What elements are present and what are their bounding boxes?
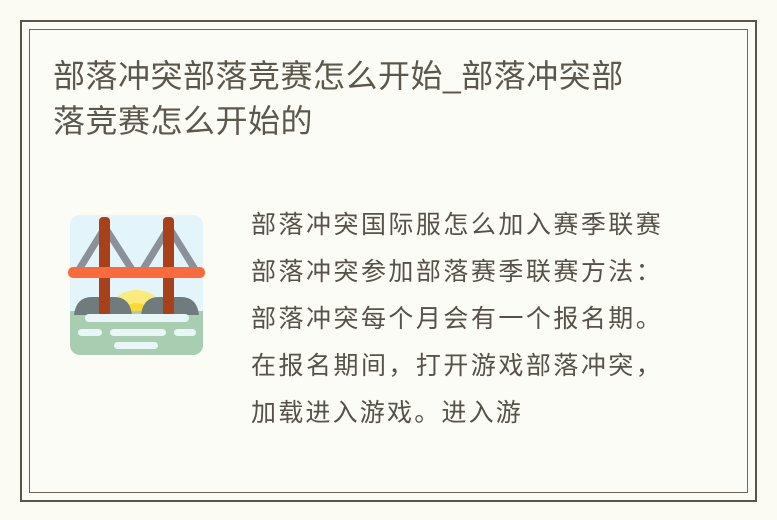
bridge-sunset-icon bbox=[62, 210, 211, 360]
card-outer-border: 部落冲突部落竞赛怎么开始_部落冲突部落竞赛怎么开始的 bbox=[20, 20, 757, 502]
article-excerpt: 部落冲突国际服怎么加入赛季联赛部落冲突参加部落赛季联赛方法：部落冲突每个月会有一… bbox=[251, 190, 663, 437]
article-card-page: 部落冲突部落竞赛怎么开始_部落冲突部落竞赛怎么开始的 bbox=[0, 0, 777, 520]
article-thumbnail[interactable] bbox=[62, 210, 211, 360]
article-body: 部落冲突国际服怎么加入赛季联赛部落冲突参加部落赛季联赛方法：部落冲突每个月会有一… bbox=[53, 190, 735, 490]
page-title: 部落冲突部落竞赛怎么开始_部落冲突部落竞赛怎么开始的 bbox=[53, 54, 653, 144]
